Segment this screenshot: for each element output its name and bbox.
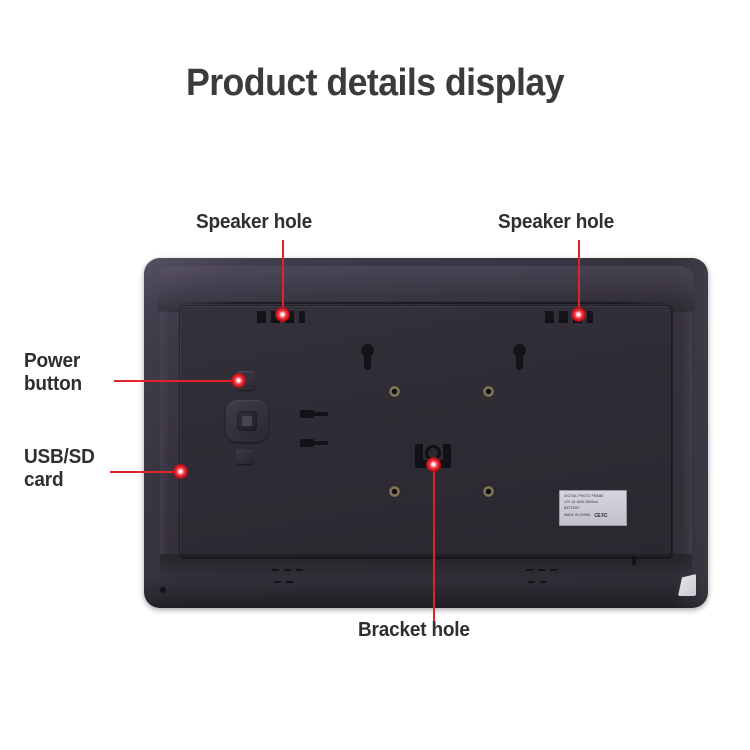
side-pinhole [632,556,636,565]
device-rear-panel: DIGITAL PHOTO FRAME 12V 1A 1000-3000mA B… [144,258,708,608]
sd-card-port-slot [300,439,314,447]
leader-line-speaker-hole-left [282,240,284,314]
navigation-pad[interactable] [226,400,268,442]
vent-slot [528,581,549,583]
marker-dot-bracket-hole [426,457,441,472]
device-top-shelf-edge [174,302,678,304]
product-details-figure: Product details display [0,0,750,750]
vent-slot [272,569,305,571]
marker-dot-speaker-hole-right [571,307,586,322]
page-title: Product details display [23,62,728,105]
keyhole-slot [364,353,371,370]
marker-dot-power-button [231,373,246,388]
callout-label-usb-sd-card: USB/SD card [24,446,95,492]
leader-line-speaker-hole-right [578,240,580,314]
vesa-screw-hole [483,486,494,497]
vent-slot [526,569,559,571]
device-left-side-strip [160,310,168,554]
label-origin-text: MADE IN CHINA [564,513,590,519]
device-bottom-shelf [160,554,692,602]
vent-slot [274,581,295,583]
menu-button[interactable] [236,450,253,464]
device-right-side-strip [684,310,692,554]
keyhole-mount-right [512,344,527,370]
callout-label-speaker-hole-right: Speaker hole [498,211,614,234]
vesa-screw-hole [389,486,400,497]
leader-line-usb-sd-card [110,471,180,473]
usb-port-slot [300,410,314,418]
callout-label-power-button: Power button [24,350,82,396]
vesa-screw-hole [483,386,494,397]
callout-label-bracket-hole: Bracket hole [358,619,470,642]
leader-line-bracket-hole [433,464,435,628]
reset-pinhole [160,587,166,593]
leader-line-power-button [114,380,238,382]
marker-dot-speaker-hole-left [275,307,290,322]
product-label-sticker: DIGITAL PHOTO FRAME 12V 1A 1000-3000mA B… [559,490,627,526]
marker-dot-usb-sd-card [173,464,188,479]
certification-marks-icon: CE FC [594,512,607,521]
keyhole-mount-left [360,344,375,370]
keyhole-slot [516,353,523,370]
label-line-origin: MADE IN CHINA CE FC [564,512,620,521]
vesa-screw-hole [389,386,400,397]
callout-label-speaker-hole-left: Speaker hole [196,211,312,234]
